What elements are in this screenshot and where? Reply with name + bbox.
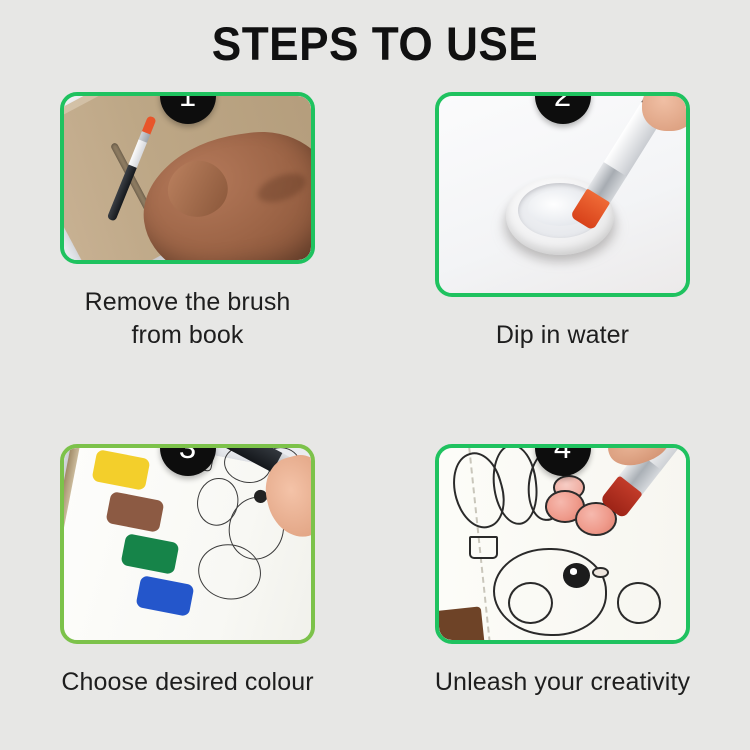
- step-item-1: 1 Remove the brush from book: [0, 92, 375, 352]
- step-item-3: 3 Choose desired colour: [0, 444, 375, 699]
- photo-choose-desired-colour: [64, 448, 311, 640]
- step-caption-3: Choose desired colour: [61, 666, 313, 699]
- step-photo-card-1: 1: [60, 92, 315, 264]
- line-art-flowerpot: [469, 536, 499, 559]
- steps-grid: 1 Remove the brush from book 2: [0, 92, 750, 699]
- step-photo-card-3: 3: [60, 444, 315, 644]
- step-item-2: 2 Dip in water: [375, 92, 750, 352]
- step-photo-card-2: 2: [435, 92, 690, 297]
- knuckle-shading: [254, 169, 309, 209]
- photo-unleash-your-creativity: [439, 448, 686, 640]
- step-photo-card-4: 4: [435, 444, 690, 644]
- page-corner: [439, 606, 486, 639]
- step-caption-1: Remove the brush from book: [85, 286, 291, 353]
- step-item-4: 4 Unleash your creativity: [375, 444, 750, 699]
- line-art-bunny-cheek: [508, 582, 552, 624]
- step-caption-4: Unleash your creativity: [435, 666, 690, 699]
- photo-dip-brush-in-water: [439, 96, 686, 293]
- step-caption-2: Dip in water: [496, 319, 629, 352]
- line-art-bunny-eye: [563, 563, 590, 588]
- page-title: STEPS TO USE: [23, 0, 728, 67]
